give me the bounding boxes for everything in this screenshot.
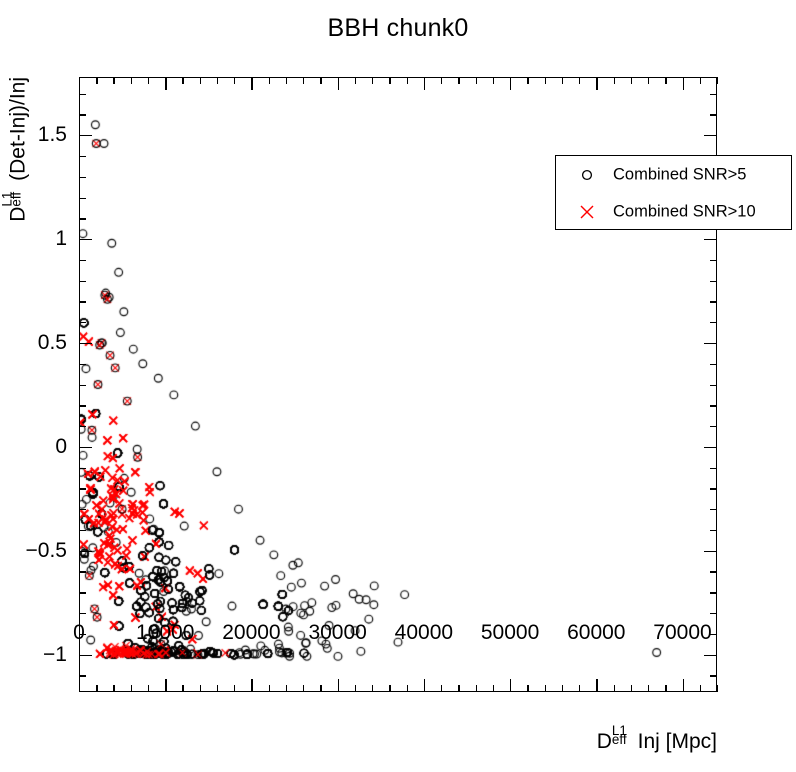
- y-tick-major: [79, 551, 92, 552]
- y-tick-label: 0: [55, 435, 67, 459]
- x-tick-major-top: [338, 77, 339, 90]
- y-tick-minor: [79, 177, 86, 178]
- x-tick-label: 20000: [222, 621, 280, 645]
- x-tick-minor: [372, 685, 373, 692]
- x-tick-major-top: [424, 77, 425, 90]
- y-tick-minor-right: [710, 592, 717, 593]
- x-tick-minor-top: [631, 77, 632, 84]
- y-tick-minor: [79, 322, 86, 323]
- y-tick-minor-right: [710, 509, 717, 510]
- x-tick-minor-top: [665, 77, 666, 84]
- x-tick-minor: [717, 685, 718, 692]
- x-tick-minor: [131, 685, 132, 692]
- y-tick-label: −1: [43, 643, 67, 667]
- legend-entry: Combined SNR>10: [556, 193, 791, 230]
- x-axis-title-indices: L1eff: [612, 727, 632, 748]
- x-tick-minor-top: [648, 77, 649, 84]
- x-tick-major-top: [251, 77, 252, 90]
- y-tick-minor: [79, 571, 86, 572]
- x-tick-minor-top: [131, 77, 132, 84]
- x-tick-major-top: [79, 77, 80, 90]
- x-tick-minor-top: [234, 77, 235, 84]
- x-tick-major-top: [510, 77, 511, 90]
- open-circle-marker-icon: [576, 164, 598, 186]
- y-tick-major-right: [704, 655, 717, 656]
- x-tick-minor: [648, 685, 649, 692]
- x-tick-label: 60000: [567, 621, 625, 645]
- plot-page: BBH chunk0 DL1eff (Det-Inj)/Inj DL1eff I…: [0, 0, 796, 772]
- x-tick-minor-top: [200, 77, 201, 84]
- y-tick-label: 0.5: [38, 331, 67, 355]
- x-tick-minor-top: [700, 77, 701, 84]
- x-tick-major: [338, 679, 339, 692]
- y-tick-minor: [79, 364, 86, 365]
- x-axis-title-subscript: eff: [612, 732, 627, 747]
- x-tick-minor: [631, 685, 632, 692]
- x-tick-minor: [476, 685, 477, 692]
- y-tick-minor: [79, 385, 86, 386]
- x-tick-minor: [665, 685, 666, 692]
- x-tick-minor-top: [113, 77, 114, 84]
- x-tick-minor: [545, 685, 546, 692]
- x-tick-minor-top: [545, 77, 546, 84]
- x-tick-minor-top: [458, 77, 459, 84]
- x-tick-minor-top: [579, 77, 580, 84]
- x-tick-label: 10000: [136, 621, 194, 645]
- x-tick-minor-top: [441, 77, 442, 84]
- x-tick-minor: [113, 685, 114, 692]
- y-tick-minor-right: [710, 530, 717, 531]
- y-tick-label: −0.5: [26, 539, 67, 563]
- y-tick-major: [79, 239, 92, 240]
- y-tick-major: [79, 655, 92, 656]
- x-tick-minor: [269, 685, 270, 692]
- y-tick-minor: [79, 530, 86, 531]
- x-tick-minor: [407, 685, 408, 692]
- x-tick-minor-top: [389, 77, 390, 84]
- y-tick-minor-right: [710, 426, 717, 427]
- y-tick-minor: [79, 426, 86, 427]
- x-tick-minor: [441, 685, 442, 692]
- x-tick-minor: [303, 685, 304, 692]
- x-tick-label: 40000: [395, 621, 453, 645]
- y-tick-minor: [79, 468, 86, 469]
- y-tick-minor-right: [710, 322, 717, 323]
- y-tick-minor: [79, 613, 86, 614]
- x-tick-minor-top: [303, 77, 304, 84]
- x-tick-minor-top: [493, 77, 494, 84]
- legend-label: Combined SNR>10: [613, 202, 756, 221]
- x-tick-minor-top: [148, 77, 149, 84]
- y-axis-title-indices: L1eff: [4, 187, 25, 207]
- y-tick-major: [79, 343, 92, 344]
- y-tick-major-right: [704, 135, 717, 136]
- x-tick-minor: [614, 685, 615, 692]
- plot-area: Combined SNR>5Combined SNR>10: [79, 77, 717, 692]
- x-tick-minor-top: [527, 77, 528, 84]
- x-tick-minor-top: [717, 77, 718, 84]
- y-tick-label: 1.5: [38, 123, 67, 147]
- x-tick-minor: [286, 685, 287, 692]
- x-tick-minor: [527, 685, 528, 692]
- x-axis-title-tail: Inj [Mpc]: [632, 730, 717, 753]
- x-tick-minor-top: [217, 77, 218, 84]
- y-tick-minor-right: [710, 281, 717, 282]
- x-tick-minor: [200, 685, 201, 692]
- y-tick-minor: [79, 301, 86, 302]
- y-tick-minor-right: [710, 364, 717, 365]
- y-tick-minor: [79, 198, 86, 199]
- x-tick-label: 0: [73, 621, 85, 645]
- x-tick-major: [596, 679, 597, 692]
- x-tick-major: [79, 679, 80, 692]
- y-tick-minor-right: [710, 301, 717, 302]
- y-tick-major-right: [704, 551, 717, 552]
- x-tick-minor: [234, 685, 235, 692]
- y-tick-minor: [79, 675, 86, 676]
- y-tick-minor: [79, 218, 86, 219]
- x-tick-major-top: [165, 77, 166, 90]
- x-tick-minor: [700, 685, 701, 692]
- y-tick-minor: [79, 592, 86, 593]
- y-axis-title-main: D: [7, 207, 30, 222]
- y-tick-minor: [79, 114, 86, 115]
- x-tick-minor: [96, 685, 97, 692]
- y-tick-minor-right: [710, 675, 717, 676]
- legend: Combined SNR>5Combined SNR>10: [555, 155, 792, 230]
- y-axis-title-subscript: eff: [8, 192, 23, 207]
- x-tick-minor: [355, 685, 356, 692]
- x-tick-minor-top: [182, 77, 183, 84]
- y-tick-minor: [79, 260, 86, 261]
- page-title: BBH chunk0: [0, 14, 796, 43]
- y-tick-major-right: [704, 343, 717, 344]
- x-tick-major: [424, 679, 425, 692]
- y-axis-title-tail: (Det-Inj)/Inj: [7, 77, 30, 187]
- y-tick-minor: [79, 488, 86, 489]
- y-tick-minor-right: [710, 571, 717, 572]
- x-tick-major-top: [683, 77, 684, 90]
- y-tick-major-right: [704, 239, 717, 240]
- y-tick-minor-right: [710, 405, 717, 406]
- x-tick-minor: [579, 685, 580, 692]
- x-tick-minor: [148, 685, 149, 692]
- legend-label: Combined SNR>5: [613, 165, 746, 184]
- x-axis-title-main: D: [597, 730, 612, 753]
- x-tick-minor-top: [407, 77, 408, 84]
- cross-marker-icon: [576, 201, 598, 223]
- y-tick-minor: [79, 405, 86, 406]
- y-tick-minor-right: [710, 114, 717, 115]
- x-tick-minor-top: [286, 77, 287, 84]
- y-axis-title: DL1eff (Det-Inj)/Inj: [4, 77, 31, 222]
- x-tick-label: 70000: [653, 621, 711, 645]
- x-tick-minor: [458, 685, 459, 692]
- y-tick-minor: [79, 281, 86, 282]
- x-tick-major: [165, 679, 166, 692]
- y-tick-minor-right: [710, 260, 717, 261]
- x-tick-major: [510, 679, 511, 692]
- y-tick-minor: [79, 94, 86, 95]
- y-tick-label: 1: [55, 227, 67, 251]
- y-tick-minor-right: [710, 488, 717, 489]
- x-axis-title: DL1eff Inj [Mpc]: [597, 727, 717, 754]
- x-tick-minor-top: [320, 77, 321, 84]
- y-tick-major-right: [704, 447, 717, 448]
- y-tick-major: [79, 135, 92, 136]
- x-tick-minor-top: [96, 77, 97, 84]
- legend-entry: Combined SNR>5: [556, 156, 791, 193]
- y-tick-minor: [79, 156, 86, 157]
- x-tick-minor-top: [614, 77, 615, 84]
- y-tick-minor-right: [710, 613, 717, 614]
- y-tick-minor-right: [710, 385, 717, 386]
- x-tick-minor-top: [269, 77, 270, 84]
- x-tick-minor: [217, 685, 218, 692]
- x-tick-major: [251, 679, 252, 692]
- x-tick-minor-top: [372, 77, 373, 84]
- x-tick-minor: [493, 685, 494, 692]
- x-tick-minor-top: [562, 77, 563, 84]
- x-tick-minor-top: [355, 77, 356, 84]
- x-tick-major: [683, 679, 684, 692]
- x-tick-minor: [182, 685, 183, 692]
- y-tick-minor-right: [710, 94, 717, 95]
- x-tick-minor-top: [476, 77, 477, 84]
- x-tick-minor: [389, 685, 390, 692]
- y-tick-major: [79, 447, 92, 448]
- x-tick-minor: [320, 685, 321, 692]
- x-tick-major-top: [596, 77, 597, 90]
- x-tick-label: 30000: [308, 621, 366, 645]
- y-tick-minor-right: [710, 468, 717, 469]
- y-axis-title-wrap: DL1eff (Det-Inj)/Inj: [0, 77, 34, 377]
- x-tick-minor: [562, 685, 563, 692]
- y-tick-minor: [79, 509, 86, 510]
- x-tick-label: 50000: [481, 621, 539, 645]
